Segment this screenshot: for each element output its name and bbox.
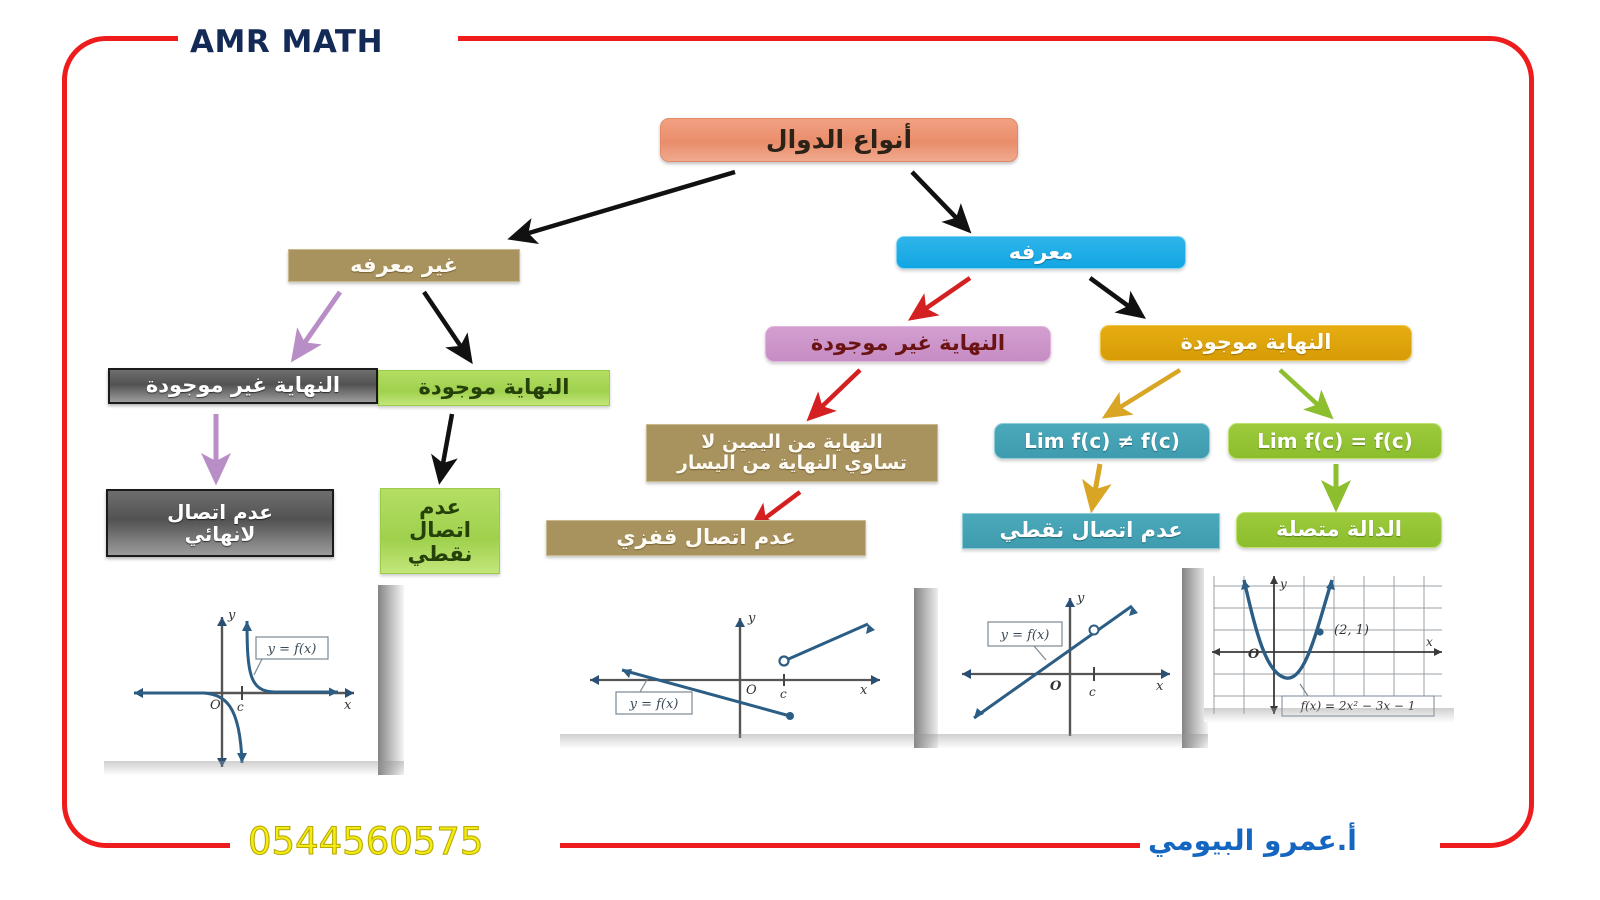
parabola-graph: (2, 1) O x y f(x) = 2x² − 3x − 1 [1204,562,1454,722]
graph-parabola-point-label: (2, 1) [1334,623,1369,638]
graph-jump-c-label: c [780,687,787,701]
node-point-left-line1: عدم [408,496,473,520]
footer-author-name: أ.عمرو البيومي [1148,824,1357,857]
brand-title: AMR MATH [190,24,383,60]
node-limit-exists-undefined[interactable]: النهاية موجودة [378,370,610,406]
infinite-discontinuity-graph: y = f(x) O c x y [104,585,404,775]
node-limit-not-exist-defined[interactable]: النهاية غير موجودة [765,326,1051,362]
graph-jump-x-axis: x [860,683,868,698]
node-jump-discontinuity[interactable]: عدم اتصال قفزي [546,520,866,556]
node-right-left-limits-unequal[interactable]: النهاية من اليمين لا تساوي النهاية من ال… [646,424,938,482]
node-lim-equal-fc[interactable]: Lim f(c) = f(c) [1228,423,1442,459]
jump-discontinuity-graph: y = f(x) O c x y [560,588,940,748]
node-point-discontinuity-right[interactable]: عدم اتصال نقطي [962,513,1220,549]
footer-phone-number: 0544560575 [248,820,483,863]
graph-shadow-bottom [104,761,404,775]
graph-point-fn-label: y = f(x) [1000,628,1050,643]
graph-parabola-x-axis: x [1426,635,1433,649]
node-right-left-line2: تساوي النهاية من اليسار [677,453,907,474]
node-infinite-line2: لانهائي [167,523,273,545]
graph-point-origin: O [1050,679,1062,694]
node-types-of-functions[interactable]: أنواع الدوال [660,118,1018,162]
graph-shadow-right [914,588,940,748]
node-point-left-line3: نقطي [408,543,473,567]
node-infinite-discontinuity[interactable]: عدم اتصال لانهائي [106,489,334,557]
graph-jump-fn-label: y = f(x) [629,697,679,712]
graph-infinite-x-axis: x [344,698,352,713]
node-lim-not-equal-fc[interactable]: Lim f(c) ≠ f(c) [994,423,1210,459]
node-infinite-line1: عدم اتصال [167,501,273,523]
node-limit-not-exist-undefined[interactable]: النهاية غير موجودة [108,368,378,404]
node-undefined[interactable]: غير معرفه [288,249,520,282]
node-point-discontinuity-left[interactable]: عدم اتصال نقطي [380,488,500,574]
graph-point-c-label: c [1089,685,1096,699]
graph-infinite-origin: O [210,698,221,713]
graph-infinite-c-label: c [237,700,244,714]
node-defined[interactable]: معرفه [896,236,1186,269]
graph-infinite-fn-label: y = f(x) [267,642,317,657]
node-point-left-line2: اتصال [408,519,473,543]
graph-jump-y-axis: y [747,611,756,626]
graph-point-x-axis: x [1156,679,1164,694]
node-right-left-line1: النهاية من اليمين لا [677,432,907,453]
graph-shadow-bottom [938,734,1208,748]
diagram-canvas: AMR MATH 0544560575 أ.عمرو البيومي [0,0,1600,900]
graph-jump-origin: O [746,683,757,698]
graph-shadow-bottom [1204,708,1454,722]
node-limit-exists-defined[interactable]: النهاية موجودة [1100,325,1412,361]
graph-point-y-axis: y [1076,591,1085,606]
graph-parabola-y-axis: y [1279,577,1287,591]
graph-infinite-y-axis: y [227,608,236,623]
graph-shadow-bottom [560,734,940,748]
graph-parabola-origin: O [1248,647,1260,662]
node-continuous-function[interactable]: الدالة متصلة [1236,512,1442,548]
point-discontinuity-graph: y = f(x) O c x y [938,568,1208,748]
graph-shadow-right [378,585,404,775]
